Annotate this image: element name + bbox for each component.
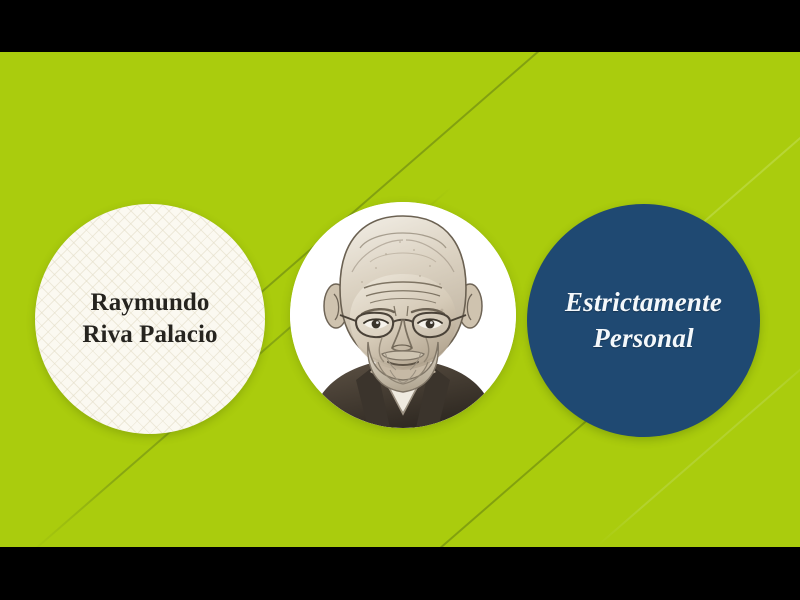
author-portrait-avatar[interactable]	[290, 202, 516, 428]
column-title-text: Estrictamente Personal	[553, 285, 734, 355]
author-name-line-1: Raymundo	[82, 287, 217, 319]
author-name-text: Raymundo Riva Palacio	[68, 287, 231, 351]
letterbox-bar-bottom	[0, 547, 800, 600]
column-banner: Raymundo Riva Palacio	[0, 0, 800, 600]
column-title-line-1: Estrictamente	[565, 285, 722, 320]
author-name-badge[interactable]: Raymundo Riva Palacio	[35, 204, 265, 434]
column-title-badge[interactable]: Estrictamente Personal	[527, 204, 760, 437]
author-portrait-illustration	[290, 202, 516, 428]
letterbox-bar-top	[0, 0, 800, 52]
banner-stage: Raymundo Riva Palacio	[0, 52, 800, 547]
author-name-line-2: Riva Palacio	[82, 319, 217, 351]
column-title-line-2: Personal	[565, 321, 722, 356]
